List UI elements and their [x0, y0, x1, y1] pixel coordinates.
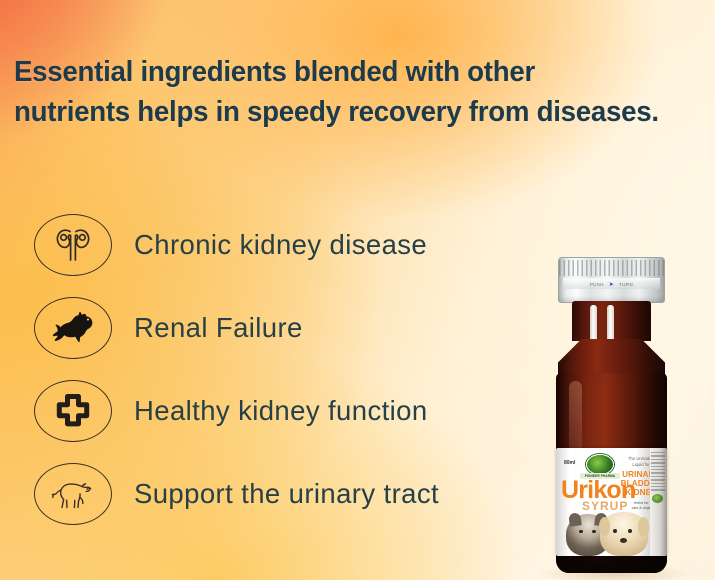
cap-arrow-icon: ➤	[609, 281, 614, 288]
microtext-line	[651, 476, 665, 477]
kitten-eye-left	[579, 530, 583, 533]
headline-line-1: Essential ingredients blended with other	[14, 52, 683, 92]
kidney-icon	[34, 214, 112, 276]
puppy-ear-left	[599, 517, 610, 536]
product-bottle: PUSH ➤ TURN 80ml PIONEER PHARMA Urikon S…	[529, 257, 699, 580]
label-volume: 80ml	[564, 460, 575, 466]
cap-text-right: TURN	[619, 282, 633, 287]
microtext-line	[651, 466, 665, 467]
microtext-line	[651, 483, 665, 484]
puppy-image	[600, 512, 648, 556]
microtext-line	[651, 459, 665, 460]
feature-list: Chronic kidney disease Renal Failure Hea…	[34, 203, 554, 535]
jumping-dog-icon	[34, 297, 112, 359]
list-item: Support the urinary tract	[34, 452, 554, 535]
microtext-line	[651, 469, 665, 470]
urinating-dog-icon	[34, 463, 112, 525]
promo-banner: Essential ingredients blended with other…	[0, 0, 715, 580]
cap-text-left: PUSH	[590, 282, 604, 287]
cap-ribbing	[559, 260, 664, 276]
microtext-line	[651, 479, 665, 480]
label-side-microtext	[651, 452, 666, 491]
list-item: Chronic kidney disease	[34, 203, 554, 286]
list-item-label: Chronic kidney disease	[134, 229, 427, 261]
microtext-line	[651, 462, 665, 463]
puppy-eye-left	[613, 529, 617, 533]
microtext-line	[651, 489, 665, 490]
bottle-shoulder	[558, 339, 665, 377]
label-side-panel	[650, 448, 667, 556]
puppy-eye-right	[628, 529, 632, 533]
puppy-nose	[620, 538, 627, 543]
list-item-label: Support the urinary tract	[134, 478, 439, 510]
list-item: Renal Failure	[34, 286, 554, 369]
bottle-cap: PUSH ➤ TURN	[558, 257, 665, 303]
puppy-ear-right	[638, 517, 649, 536]
label-pet-photo	[558, 510, 650, 556]
kitten-eye-right	[592, 530, 596, 533]
medical-cross-icon	[34, 380, 112, 442]
microtext-line	[651, 472, 665, 473]
list-item-label: Renal Failure	[134, 312, 303, 344]
microtext-line	[651, 452, 665, 453]
bottle-label: 80ml PIONEER PHARMA Urikon SYRUP The Unr…	[556, 448, 667, 556]
page-title: Essential ingredients blended with other…	[14, 52, 683, 132]
kitten-ear-left	[568, 512, 582, 527]
microtext-line	[651, 486, 665, 487]
brand-logo-icon	[586, 454, 614, 475]
list-item-label: Healthy kidney function	[134, 395, 428, 427]
headline-line-2: nutrients helps in speedy recovery from …	[14, 92, 683, 132]
side-brand-logo-icon	[652, 494, 663, 503]
list-item: Healthy kidney function	[34, 369, 554, 452]
microtext-line	[651, 455, 665, 456]
cap-band: PUSH ➤ TURN	[563, 278, 660, 289]
